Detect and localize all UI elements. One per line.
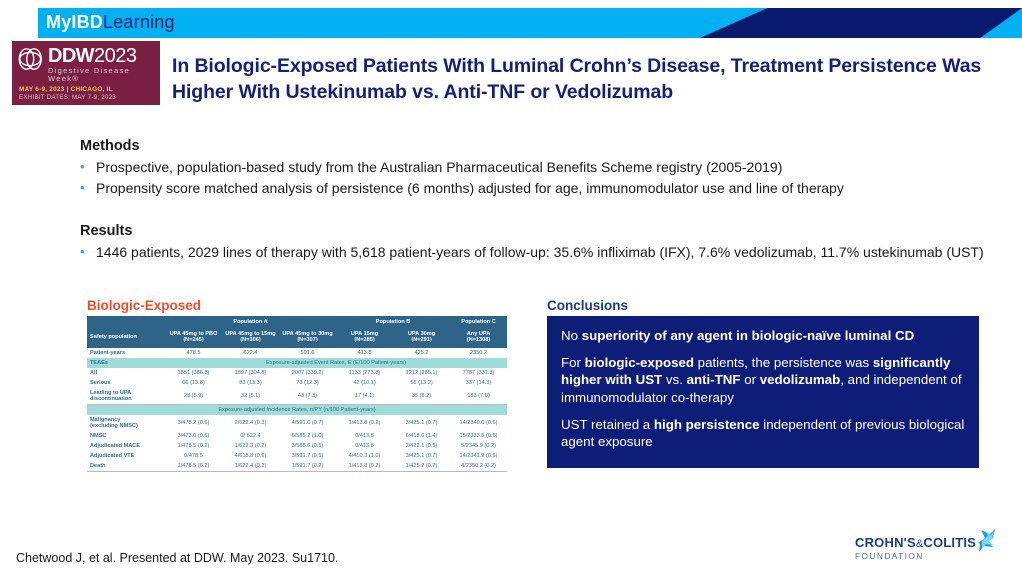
bullet-item: •Propensity score matched analysis of pe… xyxy=(80,179,985,199)
conclusion-emphasis: biologic-exposed xyxy=(585,355,694,370)
conclusion-emphasis: high persistence xyxy=(654,417,760,432)
ddw-subtitle: Digestive Disease Week® xyxy=(48,67,154,82)
table-cell-value: 3/473.0 (0.6) xyxy=(165,431,222,441)
table-cell-value: 15/2333.5 (0.6) xyxy=(450,431,507,441)
table-cell-value: 1/478.5 (0.2) xyxy=(165,461,222,472)
table-cell-value: 66 (13.8) xyxy=(165,378,222,388)
table-cell-value: 2/622.4 (0.3) xyxy=(222,415,279,431)
conclusion-emphasis: anti-TNF xyxy=(687,372,741,387)
table-row: All1851 (386.8)1897 (304.8)2007 (339.2)1… xyxy=(87,368,507,378)
table-cell-value: 4/618.8 (0.6) xyxy=(222,451,279,461)
table-row-label: Adjudicated VTE xyxy=(87,451,165,461)
table-cell-value: 73 (12.3) xyxy=(279,378,336,388)
crohns-colitis-foundation-logo: CROHN'S&COLITIS FOUNDATION xyxy=(855,536,995,570)
table-section-banner: Exposure-adjusted Event Rates, E (E/100 … xyxy=(165,358,507,368)
bullet-text: 1446 patients, 2029 lines of therapy wit… xyxy=(96,243,984,263)
table-cell-value: 2007 (339.2) xyxy=(279,368,336,378)
table-row: NMSC3/473.0 (0.6)0/ 622.46/585.2 (1.0)0/… xyxy=(87,431,507,441)
bullet-item: •1446 patients, 2029 lines of therapy wi… xyxy=(80,243,985,263)
table-cell-value: 2/422.1 (0.5) xyxy=(393,441,450,451)
table-cell-value: 0/ 622.4 xyxy=(222,431,279,441)
table-row-label: Serious xyxy=(87,378,165,388)
table-cell-value: 425.2 xyxy=(393,348,450,358)
table-cell-value: 183 (7.8) xyxy=(450,388,507,405)
conclusion-text: vs. xyxy=(662,372,686,387)
table-cell-value: 7787 (331.3) xyxy=(450,368,507,378)
table-group-header: Population A xyxy=(165,316,336,328)
table-cell-value: 32 (5.1) xyxy=(222,388,279,405)
top-banner xyxy=(38,8,1022,38)
table-column-header: Safety population xyxy=(87,328,165,348)
bullet-dot-icon: • xyxy=(80,158,87,178)
myibd-learning-logo: MyIBDLearning xyxy=(46,13,175,31)
bullet-dot-icon: • xyxy=(80,179,87,199)
table-cell-value: 42 (10.1) xyxy=(336,378,393,388)
table-cell-value: 622.4 xyxy=(222,348,279,358)
table-row: Leading to UPA discontinuation28 (5.9)32… xyxy=(87,388,507,405)
table-cell-value: 3/588.6 (0.5) xyxy=(279,441,336,451)
table-section-label: TEAEs xyxy=(87,358,165,368)
table-section-banner: Exposure-adjusted Incidence Rates, n/PY … xyxy=(87,405,507,416)
citation-footer: Chetwood J, et al. Presented at DDW. May… xyxy=(16,551,338,565)
conclusion-emphasis: superiority of any agent in biologic-naï… xyxy=(582,328,914,343)
table-cell-value: 1133 (273.8) xyxy=(336,368,393,378)
table-row-label: NMSC xyxy=(87,431,165,441)
table-cell-value: 14/2341.9 (0.6) xyxy=(450,451,507,461)
table-cell-value: 478.5 xyxy=(165,348,222,358)
table-cell-value: 1/413.8 (0.2) xyxy=(336,461,393,472)
table-cell-value: 56 (13.2) xyxy=(393,378,450,388)
table-row: Serious66 (13.8)83 (13.3)73 (12.3)42 (10… xyxy=(87,378,507,388)
bullet-text: Prospective, population-based study from… xyxy=(96,158,782,178)
table-cell-value: 3/591.7 (0.5) xyxy=(279,451,336,461)
table-column-header: UPA 15mg(N=285) xyxy=(336,328,393,348)
bullet-dot-icon: • xyxy=(80,243,87,263)
table-cell-value: 0/413.8 xyxy=(336,431,393,441)
brand-primary-text: MyIBD xyxy=(46,12,103,32)
table-column-header-row: Safety populationUPA 45mg to PBO(N=245)U… xyxy=(87,328,507,348)
table-row: Death1/478.5 (0.2)1/622.4 (0.2)1/591.7 (… xyxy=(87,461,507,472)
table-cell-value: 1/591.7 (0.2) xyxy=(279,461,336,472)
table-cell-value: 1/622.4 (0.2) xyxy=(222,461,279,472)
table-cell-value: 28 (5.9) xyxy=(165,388,222,405)
table-cell-value: 83 (13.3) xyxy=(222,378,279,388)
table-row-label: Patient-years xyxy=(87,348,165,358)
ddw-social-handles: @DDWMEETING | #DDW2023 xyxy=(18,108,154,115)
table-row-label: All xyxy=(87,368,165,378)
ddw-exhibit-dates: EXHIBIT DATES: MAY 7-9, 2023 xyxy=(18,94,154,101)
ddw-logo: DDW2023 Digestive Disease Week® MAY 6-9,… xyxy=(12,41,160,105)
table-group-header-row: Population APopulation BPopulation C xyxy=(87,316,507,328)
bullet-text: Propensity score matched analysis of per… xyxy=(96,179,844,199)
table-column-header: UPA 45mg to 30mg(N=307) xyxy=(279,328,336,348)
ddw-dates: MAY 6-9, 2023 | CHICAGO, IL xyxy=(18,86,154,93)
table-cell-value: 6/585.2 (1.0) xyxy=(279,431,336,441)
table-row-label: Malignancy(excluding NMSC) xyxy=(87,415,165,431)
table-cell-value: 1/478.5 (0.2) xyxy=(165,441,222,451)
foundation-name-a: CROHN'S xyxy=(855,535,916,550)
table-cell-value: 337 (14.3) xyxy=(450,378,507,388)
table-cell-value: 5/2345.9 (0.2) xyxy=(450,441,507,451)
conclusion-emphasis: vedolizumab xyxy=(760,372,841,387)
bullet-item: •Prospective, population-based study fro… xyxy=(80,158,985,178)
table-row-label: Adjudicated MACE xyxy=(87,441,165,451)
table-group-header: Population B xyxy=(336,316,450,328)
table-column-header: UPA 30mg(N=291) xyxy=(393,328,450,348)
ddw-emblem-icon xyxy=(18,47,44,71)
table-cell-value: 1/413.8 (0.2) xyxy=(336,415,393,431)
table-row: Adjudicated VTE0/478.54/618.8 (0.6)3/591… xyxy=(87,451,507,461)
brand-secondary-text: Learning xyxy=(103,12,175,32)
table-column-header: UPA 45mg to 15mg(N=306) xyxy=(222,328,279,348)
table-column-header: Any UPA(N=1308) xyxy=(450,328,507,348)
conclusion-text: or xyxy=(741,372,760,387)
table-column-header: UPA 45mg to PBO(N=245) xyxy=(165,328,222,348)
conclusions-label: Conclusions xyxy=(547,298,628,313)
table-cell-value: 3/478.2 (0.6) xyxy=(165,415,222,431)
methods-heading: Methods xyxy=(80,138,140,154)
table-cell-value: 591.6 xyxy=(279,348,336,358)
conclusion-paragraph: UST retained a high persistence independ… xyxy=(561,416,965,451)
table-cell-value: 3/425.1 (0.7) xyxy=(393,415,450,431)
safety-data-table-wrapper: Population APopulation BPopulation CSafe… xyxy=(87,316,507,472)
results-heading: Results xyxy=(80,223,132,239)
conclusion-paragraph: For biologic-exposed patients, the persi… xyxy=(561,354,965,407)
table-cell-value: 0/478.5 xyxy=(165,451,222,461)
safety-data-table: Population APopulation BPopulation CSafe… xyxy=(87,316,507,472)
table-row: Patient-years478.5622.4591.6413.8425.223… xyxy=(87,348,507,358)
ddw-name: DDW xyxy=(48,45,94,67)
ddw-year: 2023 xyxy=(94,45,137,67)
table-cell-value: 413.8 xyxy=(336,348,393,358)
table-cell-value: 4/2350.2 (0.2) xyxy=(450,461,507,472)
table-row: Adjudicated MACE1/478.5 (0.2)1/622.3 (0.… xyxy=(87,441,507,451)
table-cell-value: 43 (7.3) xyxy=(279,388,336,405)
conclusions-panel: No superiority of any agent in biologic-… xyxy=(547,316,979,468)
conclusion-text: For xyxy=(561,355,585,370)
table-group-header xyxy=(87,316,165,328)
table-group-header: Population C xyxy=(450,316,507,328)
table-cell-value: 4/410.3 (1.0) xyxy=(336,451,393,461)
table-cell-value: 1212 (285.1) xyxy=(393,368,450,378)
table-cell-value: 1/425.2 (0.2) xyxy=(393,461,450,472)
table-cell-value: 6/418.6 (1.4) xyxy=(393,431,450,441)
foundation-star-icon xyxy=(957,527,997,557)
table-cell-value: 2350.2 xyxy=(450,348,507,358)
page-title: In Biologic-Exposed Patients With Lumina… xyxy=(172,54,1000,105)
conclusion-text: No xyxy=(561,328,582,343)
biologic-exposed-label: Biologic-Exposed xyxy=(87,298,201,313)
banner-wedge-accent xyxy=(700,8,1022,38)
table-cell-value: 4/591.6 (0.7) xyxy=(279,415,336,431)
table-cell-value: 35 (8.2) xyxy=(393,388,450,405)
table-section-banner-row: Exposure-adjusted Incidence Rates, n/PY … xyxy=(87,405,507,416)
table-section-banner-row: TEAEsExposure-adjusted Event Rates, E (E… xyxy=(87,358,507,368)
conclusion-text: UST retained a xyxy=(561,417,654,432)
table-cell-value: 1/622.3 (0.2) xyxy=(222,441,279,451)
table-row: Malignancy(excluding NMSC)3/478.2 (0.6)2… xyxy=(87,415,507,431)
conclusion-text: patients, the persistence was xyxy=(694,355,873,370)
table-cell-value: 14/2349.0 (0.6) xyxy=(450,415,507,431)
methods-bullet-list: •Prospective, population-based study fro… xyxy=(80,158,985,200)
ddw-wordmark: DDW2023 xyxy=(48,46,154,66)
table-cell-value: 0/413.8 xyxy=(336,441,393,451)
table-row-label: Leading to UPA discontinuation xyxy=(87,388,165,405)
table-cell-value: 17 (4.1) xyxy=(336,388,393,405)
results-bullet-list: •1446 patients, 2029 lines of therapy wi… xyxy=(80,243,985,264)
conclusion-paragraph: No superiority of any agent in biologic-… xyxy=(561,327,965,345)
table-cell-value: 1897 (304.8) xyxy=(222,368,279,378)
table-row-label: Death xyxy=(87,461,165,472)
table-cell-value: 1851 (386.8) xyxy=(165,368,222,378)
table-cell-value: 3/425.1 (0.7) xyxy=(393,451,450,461)
